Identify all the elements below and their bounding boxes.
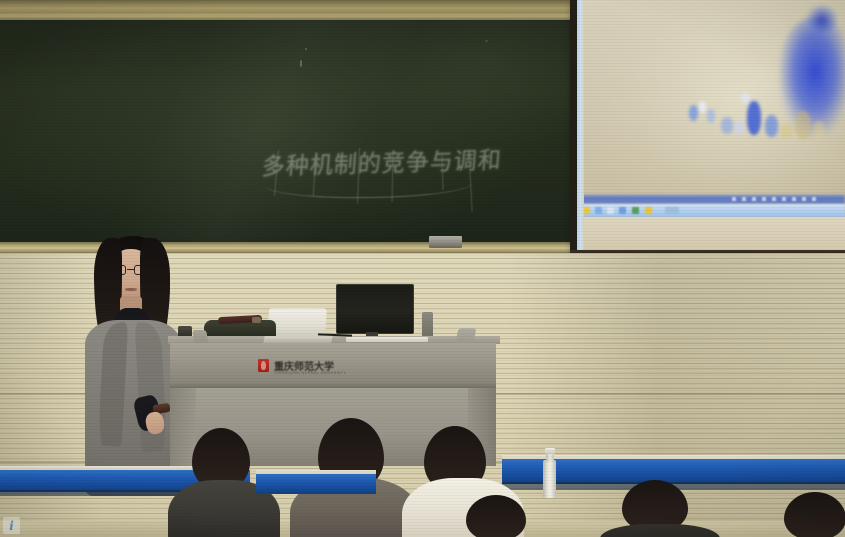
bag-buckle [252,317,261,323]
student-back-left [452,495,552,537]
water-bottle [543,460,556,498]
video-watermark: i [3,517,20,534]
water-bottle-neck [546,453,554,462]
student-front-left [178,428,268,537]
student-shoulders [600,524,720,537]
projection-lower-blank [577,217,845,250]
student-head [466,495,526,537]
upper-wall-trim [0,0,580,22]
university-name-latin: CHONGQING NORMAL UNIVERSITY [274,371,346,375]
lectern-front-panel: 重庆师范大学 CHONGQING NORMAL UNIVERSITY [170,343,496,383]
desktop-monitor [336,284,414,334]
chalk-speck [305,48,307,50]
chalk-text: 多种机制的竞争与调和 [261,140,519,181]
chalkboard-sheen [0,20,580,250]
chalk-speck [485,40,488,42]
lecture-hall-video-frame: 多种机制的竞争与调和 [0,0,845,537]
student-bench-desks [256,474,376,494]
university-seal-icon [258,359,269,372]
classroom-chalkboard: 多种机制的竞争与调和 [0,20,580,250]
chalk-speck [300,60,302,67]
keyboard [346,337,428,342]
student-back-right [604,480,714,537]
water-bottle-cap [545,448,555,454]
projection-screen [570,0,845,260]
projected-taskbar [577,204,845,217]
student-head [784,492,845,537]
projection-surface [577,0,845,250]
projected-band-text [732,197,822,201]
chalkboard-writing: 多种机制的竞争与调和 [262,144,517,206]
projection-left-edge [577,0,584,250]
projected-crowd [685,91,840,153]
instructor-mouth [125,288,137,291]
chalkboard-eraser [429,236,462,248]
open-laptop-base [263,336,332,343]
projected-figure-head [807,6,837,34]
student-far-right [780,492,845,537]
